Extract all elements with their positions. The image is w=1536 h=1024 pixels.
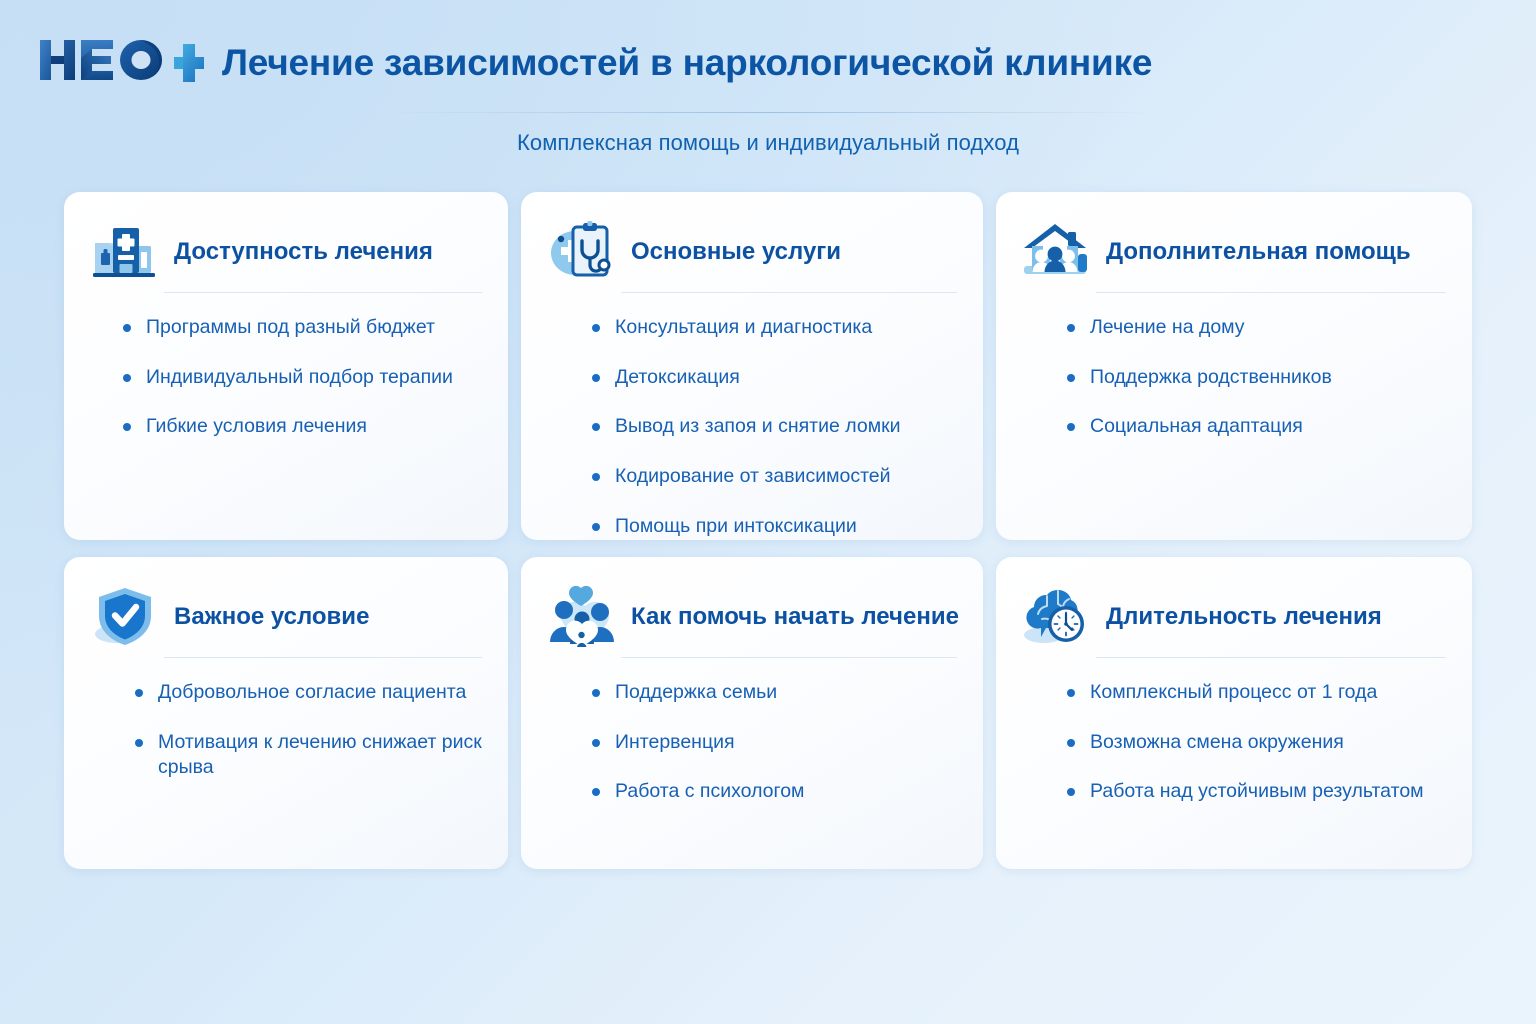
card-header: Дополнительная помощь — [1018, 214, 1446, 290]
card-header: Длительность лечения — [1018, 579, 1446, 655]
list-item: Интервенция — [591, 730, 957, 756]
card-additional-help: Дополнительная помощь Лечение на дому По… — [996, 192, 1472, 540]
card-important-condition: Важное условие Добровольное согласие пац… — [64, 557, 508, 869]
header: Лечение зависимостей в наркологической к… — [0, 0, 1536, 170]
card-bullet-list: Лечение на дому Поддержка родственников … — [1018, 293, 1446, 440]
card-title: Длительность лечения — [1106, 603, 1382, 631]
list-item: Мотивация к лечению снижает риск срыва — [134, 730, 482, 781]
card-title: Важное условие — [174, 603, 369, 631]
card-main-services: Основные услуги Консультация и диагности… — [521, 192, 983, 540]
card-how-to-start-treatment: Как помочь начать лечение Поддержка семь… — [521, 557, 983, 869]
list-item: Детоксикация — [591, 365, 957, 391]
card-header: Основные услуги — [543, 214, 957, 290]
brand-row: Лечение зависимостей в наркологической к… — [36, 34, 1152, 91]
card-treatment-duration: Длительность лечения Комплексный процесс… — [996, 557, 1472, 869]
list-item: Программы под разный бюджет — [122, 315, 482, 341]
list-item: Гибкие условия лечения — [122, 414, 482, 440]
card-title: Доступность лечения — [174, 238, 433, 266]
cards-grid: Доступность лечения Программы под разный… — [64, 192, 1472, 869]
page-title: Лечение зависимостей в наркологической к… — [222, 44, 1152, 81]
list-item: Помощь при интоксикации — [591, 514, 957, 540]
list-item: Социальная адаптация — [1066, 414, 1446, 440]
list-item: Консультация и диагностика — [591, 315, 957, 341]
house-family-cross-icon — [1018, 216, 1096, 288]
list-item: Работа над устойчивым результатом — [1066, 779, 1446, 805]
list-item: Кодирование от зависимостей — [591, 464, 957, 490]
card-title: Как помочь начать лечение — [631, 603, 959, 631]
neo-plus-logo-icon — [36, 34, 204, 91]
card-header: Как помочь начать лечение — [543, 579, 957, 655]
list-item: Возможна смена окружения — [1066, 730, 1446, 756]
list-item: Работа с психологом — [591, 779, 957, 805]
list-item: Комплексный процесс от 1 года — [1066, 680, 1446, 706]
brain-clock-icon — [1018, 581, 1096, 653]
list-item: Добровольное согласие пациента — [134, 680, 482, 706]
card-bullet-list: Поддержка семьи Интервенция Работа с пси… — [543, 658, 957, 805]
card-bullet-list: Комплексный процесс от 1 года Возможна с… — [1018, 658, 1446, 805]
list-item: Лечение на дому — [1066, 315, 1446, 341]
card-bullet-list: Консультация и диагностика Детоксикация … — [543, 293, 957, 540]
card-bullet-list: Программы под разный бюджет Индивидуальн… — [86, 293, 482, 440]
list-item: Индивидуальный подбор терапии — [122, 365, 482, 391]
list-item: Поддержка семьи — [591, 680, 957, 706]
card-bullet-list: Добровольное согласие пациента Мотивация… — [86, 658, 482, 781]
list-item: Вывод из запоя и снятие ломки — [591, 414, 957, 440]
family-heart-icon — [543, 581, 621, 653]
page-subtitle: Комплексная помощь и индивидуальный подх… — [0, 130, 1536, 156]
card-title: Основные услуги — [631, 238, 841, 266]
clipboard-stethoscope-icon — [543, 216, 621, 288]
hospital-building-icon — [86, 216, 164, 288]
shield-check-icon — [86, 581, 164, 653]
card-title: Дополнительная помощь — [1106, 238, 1411, 266]
card-header: Доступность лечения — [86, 214, 482, 290]
infographic-page: Лечение зависимостей в наркологической к… — [0, 0, 1536, 1024]
card-treatment-availability: Доступность лечения Программы под разный… — [64, 192, 508, 540]
card-header: Важное условие — [86, 579, 482, 655]
list-item: Поддержка родственников — [1066, 365, 1446, 391]
header-divider — [390, 112, 1150, 113]
